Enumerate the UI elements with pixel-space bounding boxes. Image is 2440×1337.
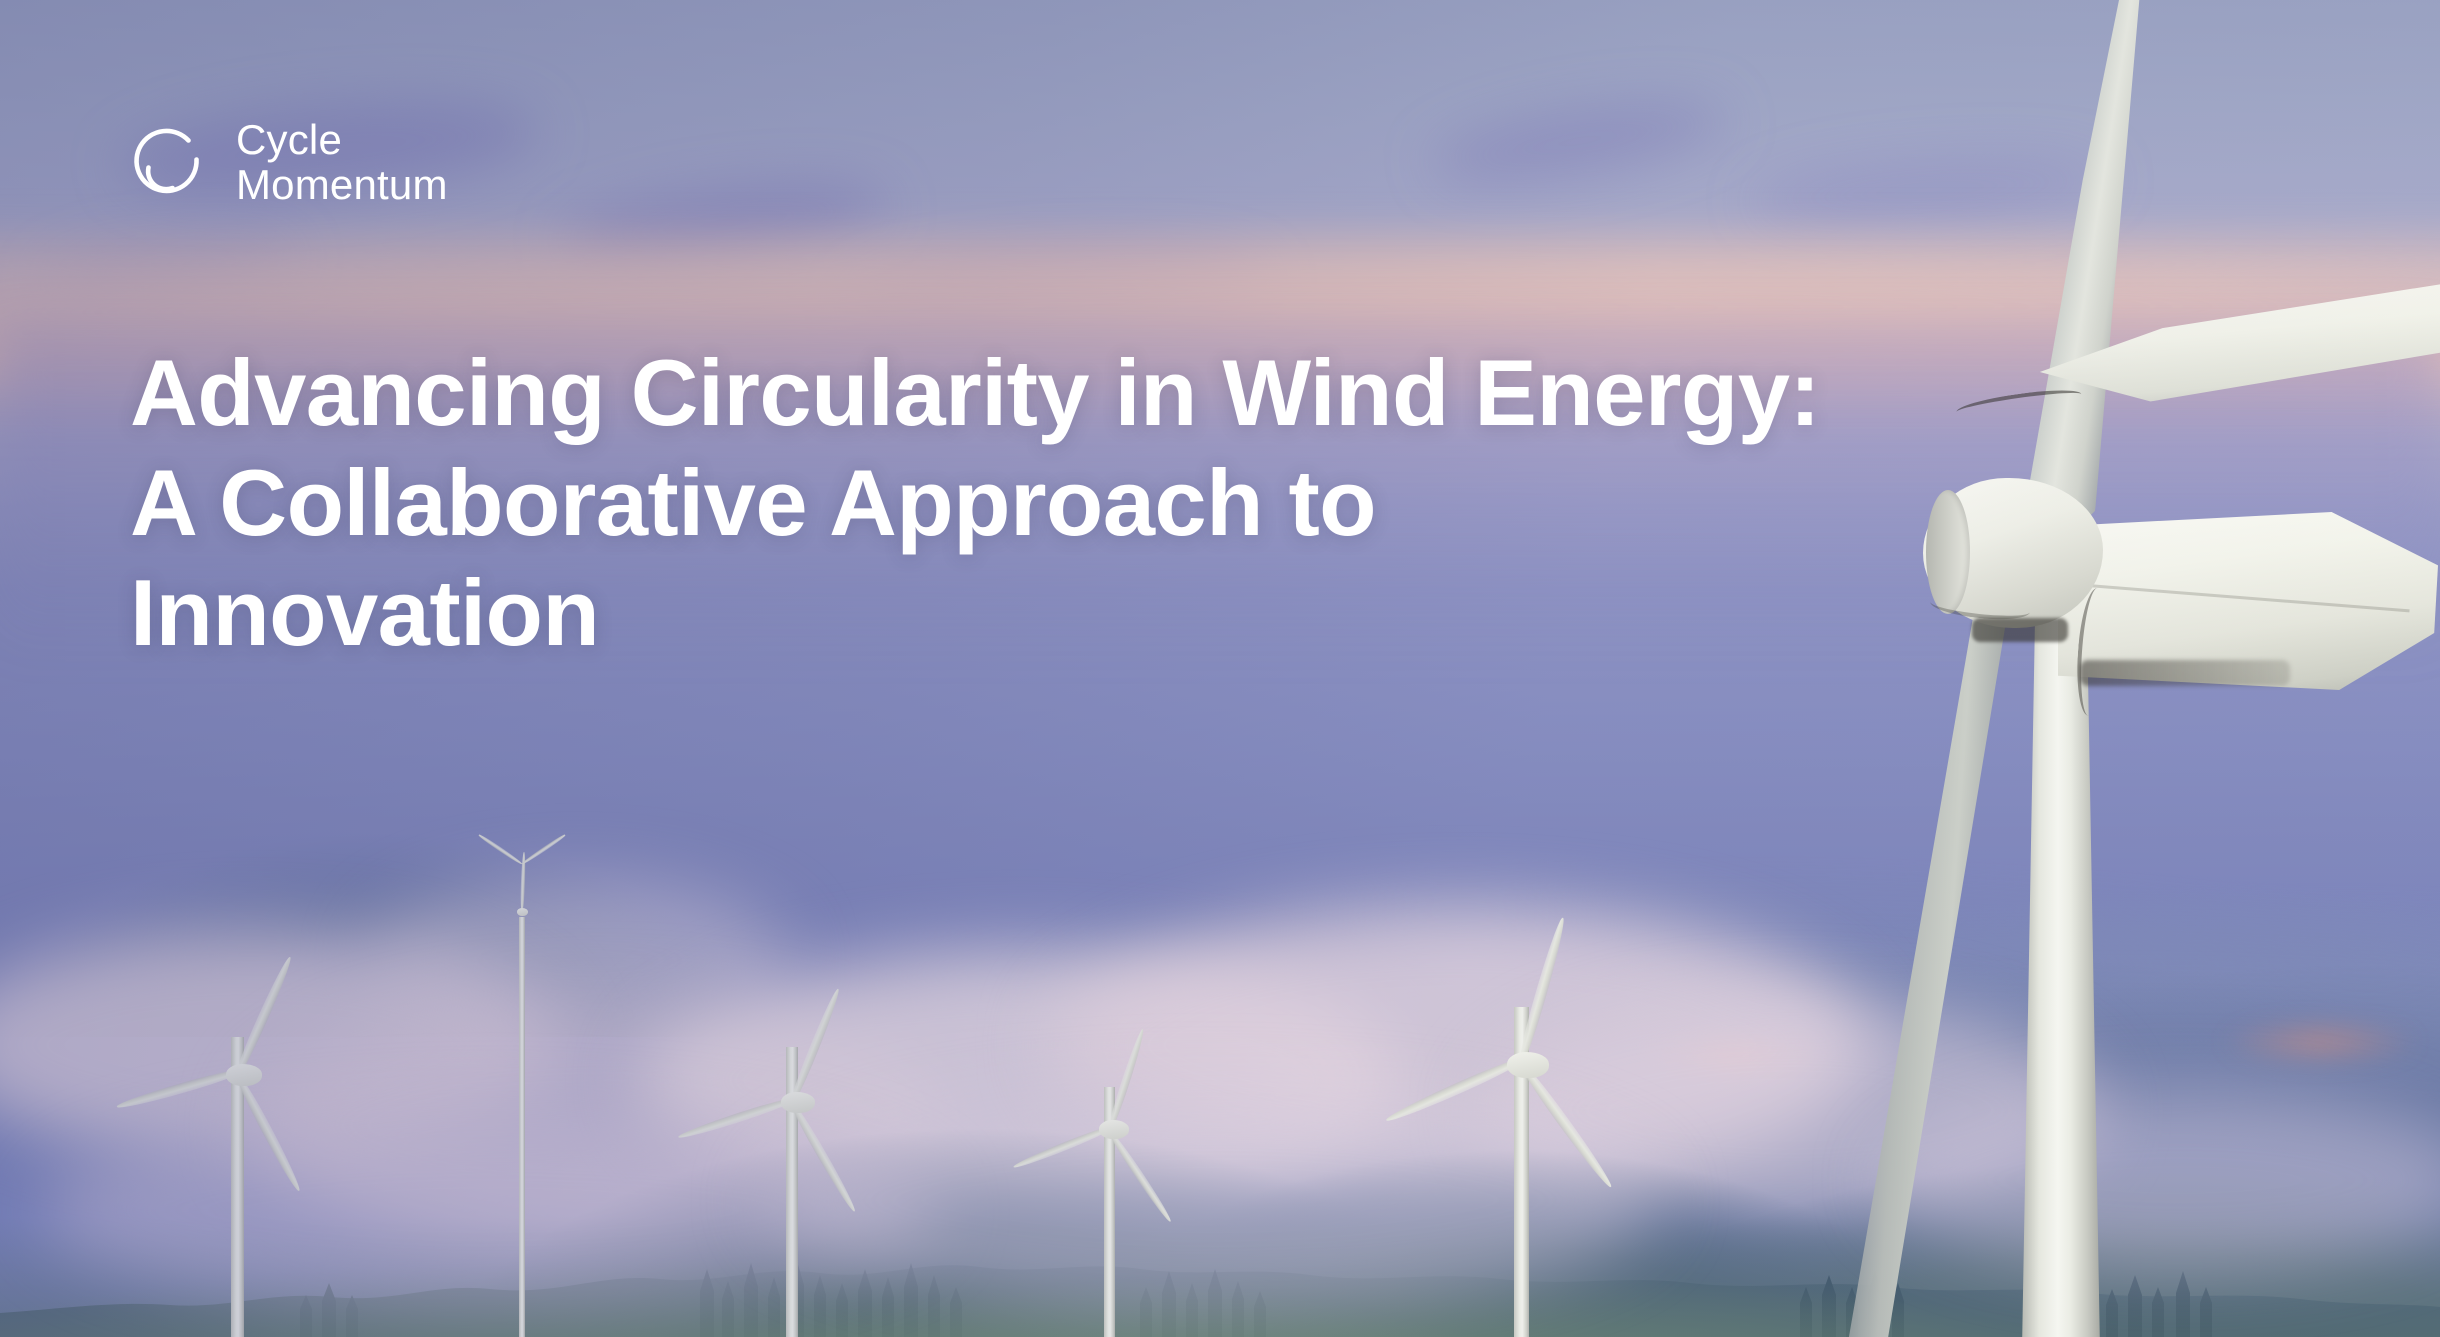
cycle-circular-arrow-icon — [130, 125, 206, 201]
brand-name: Cycle Momentum — [236, 118, 448, 207]
brand-logo[interactable]: Cycle Momentum — [130, 118, 448, 207]
hero-content: Cycle Momentum Advancing Circularity in … — [0, 0, 2440, 1337]
hero-banner: Cycle Momentum Advancing Circularity in … — [0, 0, 2440, 1337]
page-title: Advancing Circularity in Wind Energy: A … — [130, 338, 1830, 668]
